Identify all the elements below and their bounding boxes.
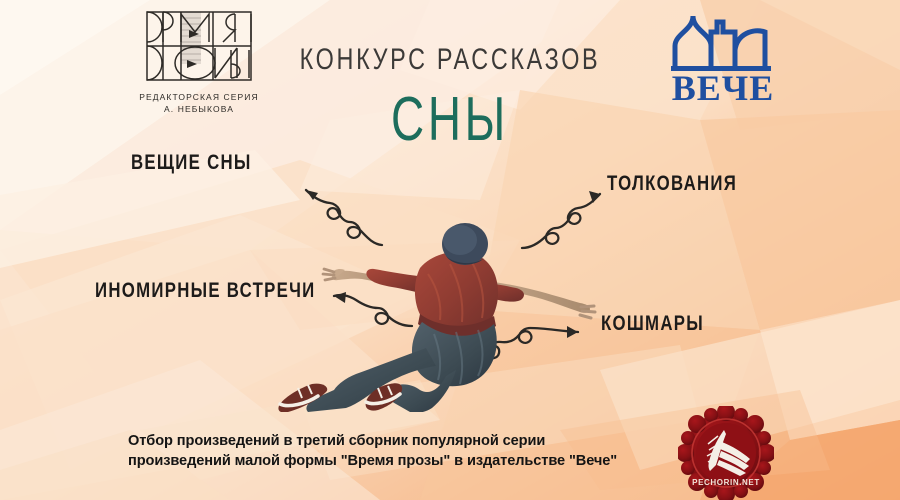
caption-line1: Отбор произведений в третий сборник попу… (128, 432, 708, 452)
category-label-veschie-sny[interactable]: ВЕЩИЕ СНЫ (131, 152, 252, 174)
contest-headline: КОНКУРС РАССКАЗОВ (99, 44, 801, 76)
category-label-tolkovaniya[interactable]: ТОЛКОВАНИЯ (607, 173, 737, 195)
poster-caption: Отбор произведений в третий сборник попу… (128, 432, 708, 471)
caption-line2: произведений малой формы "Время прозы" в… (128, 452, 708, 472)
falling-man-illustration (250, 222, 630, 412)
pechorin-net-seal[interactable]: PECHORIN.NET (678, 406, 774, 500)
poster-canvas: РЕДАКТОРСКАЯ СЕРИЯ А. НЕБЫКОВА ВЕЧЕ КОНК… (0, 0, 900, 500)
contest-title: СНЫ (117, 86, 783, 154)
seal-text: PECHORIN.NET (692, 478, 760, 487)
